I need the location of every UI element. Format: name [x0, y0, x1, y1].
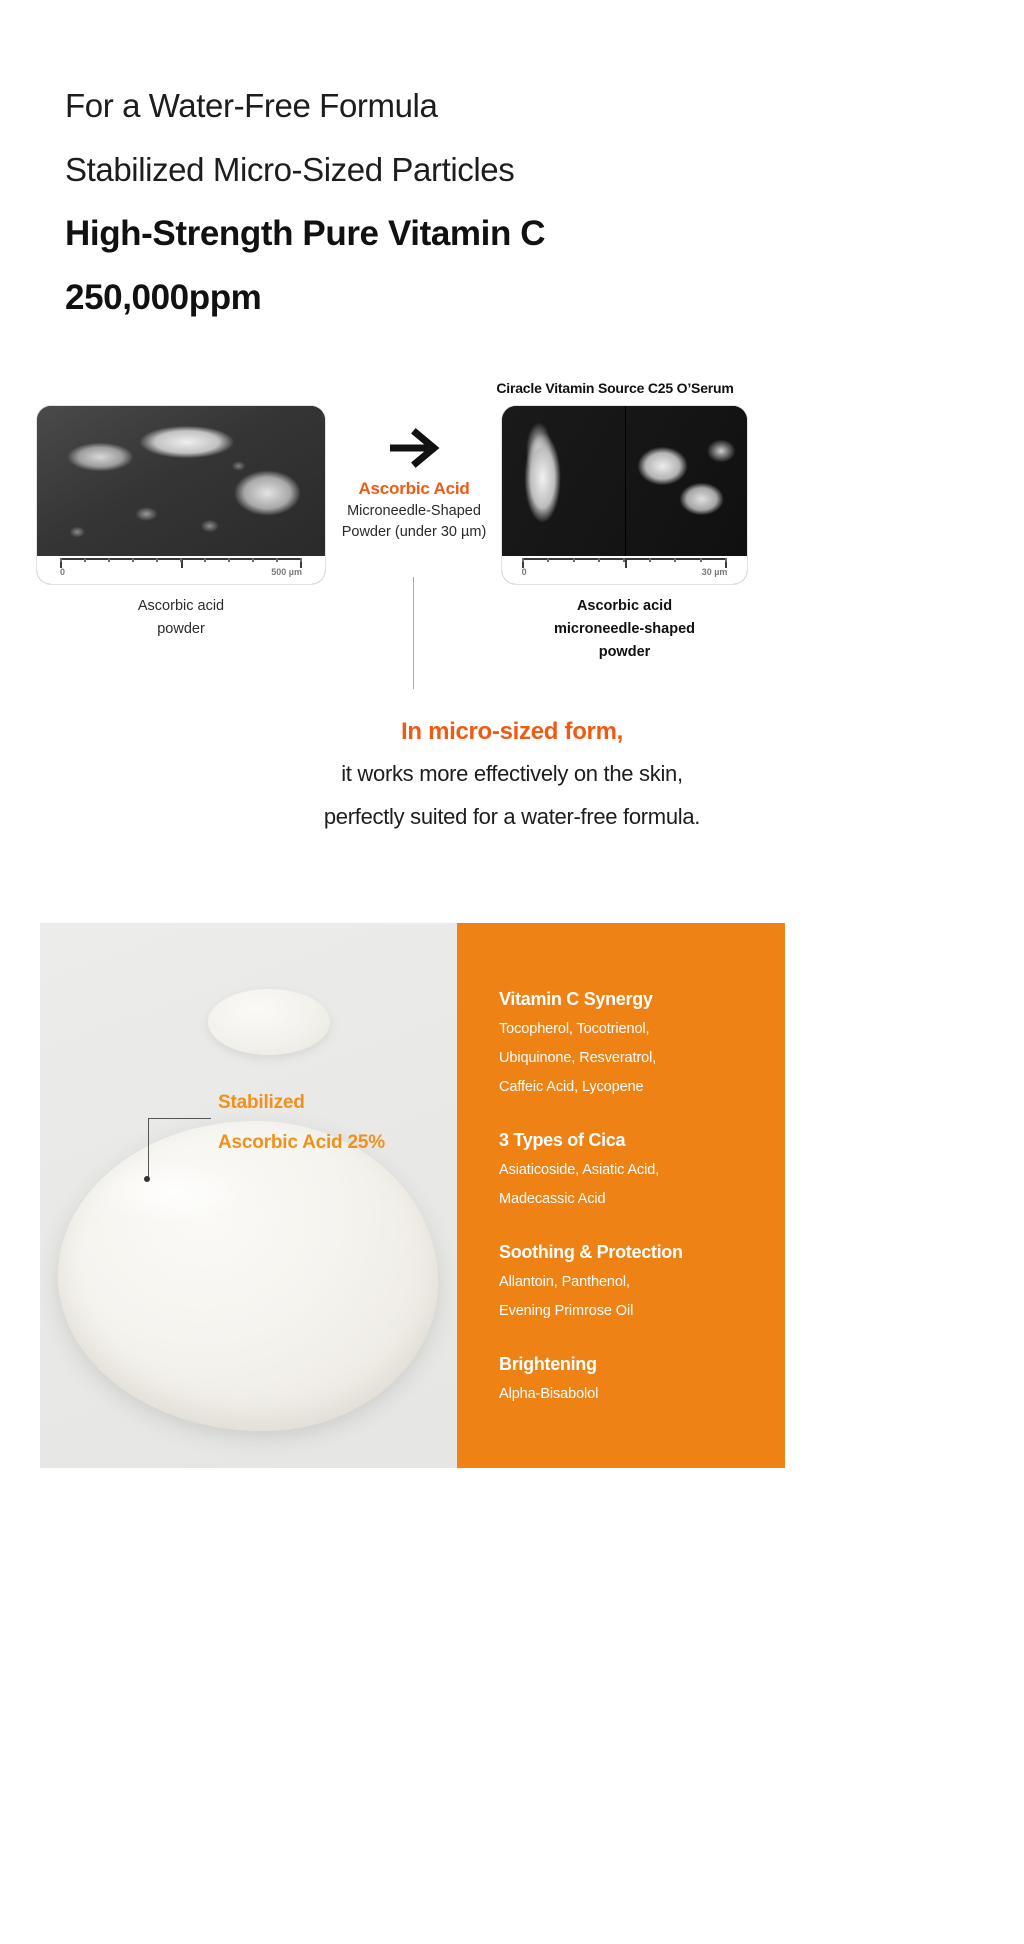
sem-texture-right-a	[502, 406, 625, 556]
ingredient-line: Asiaticoside, Asiatic Acid,	[499, 1156, 771, 1185]
caption-right-line-2: microneedle-shaped	[554, 621, 695, 637]
caption-left-line-1: Ascorbic acid	[138, 598, 224, 614]
middle-caption-line-1: Microneedle-Shaped	[310, 501, 518, 522]
sem-texture-right-b	[625, 406, 748, 556]
ingredient-group: 3 Types of Cica Asiaticoside, Asiatic Ac…	[499, 1126, 771, 1214]
right-arrow-icon	[386, 425, 442, 471]
scale-zero-label-left: 0	[60, 567, 65, 577]
caption-right-image: Ascorbic acid microneedle-shaped powder	[502, 595, 747, 664]
middle-caption: Ascorbic Acid Microneedle-Shaped Powder …	[310, 476, 518, 543]
ruler-ticks-left	[60, 558, 302, 563]
ingredient-panel: Vitamin C Synergy Tocopherol, Tocotrieno…	[457, 923, 785, 1468]
serum-photo-pane: Stabilized Ascorbic Acid 25%	[40, 923, 457, 1468]
ingredient-group: Soothing & Protection Allantoin, Panthen…	[499, 1238, 771, 1326]
tagline-highlight: In micro-sized form,	[0, 712, 1024, 752]
ingredient-line: Caffeic Acid, Lycopene	[499, 1073, 771, 1102]
headline-block: For a Water-Free Formula Stabilized Micr…	[65, 74, 825, 330]
sem-image-ascorbic-acid-powder: 0 500 µm	[37, 406, 325, 584]
callout-leader-line	[148, 1118, 211, 1181]
sem-comparison-section: Ciracle Vitamin Source C25 O’Serum 0 500…	[0, 372, 1024, 692]
callout-leader-dot	[144, 1176, 150, 1182]
serum-droplet-large	[58, 1121, 438, 1431]
headline-line-2: Stabilized Micro-Sized Particles	[65, 138, 825, 202]
ingredient-group: Brightening Alpha-Bisabolol	[499, 1350, 771, 1409]
ingredient-group-title: Brightening	[499, 1350, 771, 1378]
product-name-label: Ciracle Vitamin Source C25 O’Serum	[440, 380, 790, 396]
sem-photo-right	[502, 406, 747, 556]
ingredient-line: Evening Primrose Oil	[499, 1297, 771, 1326]
tagline-block: In micro-sized form, it works more effec…	[0, 712, 1024, 838]
caption-right-line-1: Ascorbic acid	[577, 598, 672, 614]
sem-image-microneedle-powder: 0 30 µm	[502, 406, 747, 584]
ingredient-line: Tocopherol, Tocotrienol,	[499, 1015, 771, 1044]
headline-line-1: For a Water-Free Formula	[65, 74, 825, 138]
scale-bar-right: 0 30 µm	[502, 556, 747, 584]
serum-callout-line-2: Ascorbic Acid 25%	[218, 1123, 448, 1163]
middle-caption-accent: Ascorbic Acid	[310, 476, 518, 501]
vertical-divider	[413, 577, 414, 689]
ingredient-line: Ubiquinone, Resveratrol,	[499, 1044, 771, 1073]
tagline-line-3: perfectly suited for a water-free formul…	[0, 795, 1024, 838]
sem-texture-left	[37, 406, 325, 556]
scale-max-label-left: 500 µm	[271, 567, 302, 577]
sem-photo-left	[37, 406, 325, 556]
scale-bar-left: 0 500 µm	[37, 556, 325, 584]
ingredient-line: Alpha-Bisabolol	[499, 1380, 771, 1409]
scale-max-label-right: 30 µm	[702, 567, 728, 577]
serum-callout: Stabilized Ascorbic Acid 25%	[218, 1083, 448, 1163]
middle-caption-line-2: Powder (under 30 µm)	[310, 522, 518, 543]
headline-line-4: 250,000ppm	[65, 266, 825, 330]
ingredient-group-list: Vitamin C Synergy Tocopherol, Tocotrieno…	[499, 985, 771, 1409]
ingredient-group-title: 3 Types of Cica	[499, 1126, 771, 1154]
headline-line-3: High-Strength Pure Vitamin C	[65, 202, 825, 266]
ingredient-group-title: Vitamin C Synergy	[499, 985, 771, 1013]
caption-right-line-3: powder	[599, 644, 651, 660]
tagline-line-2: it works more effectively on the skin,	[0, 752, 1024, 795]
ruler-ticks-right	[522, 558, 728, 563]
ingredient-group-title: Soothing & Protection	[499, 1238, 771, 1266]
ingredient-group: Vitamin C Synergy Tocopherol, Tocotrieno…	[499, 985, 771, 1102]
bottom-composite: Stabilized Ascorbic Acid 25% Vitamin C S…	[40, 923, 785, 1468]
caption-left-line-2: powder	[157, 621, 205, 637]
scale-zero-label-right: 0	[522, 567, 527, 577]
serum-droplet-small	[208, 989, 330, 1055]
serum-callout-line-1: Stabilized	[218, 1083, 448, 1123]
caption-left-image: Ascorbic acid powder	[37, 595, 325, 641]
ingredient-line: Allantoin, Panthenol,	[499, 1268, 771, 1297]
ingredient-line: Madecassic Acid	[499, 1185, 771, 1214]
